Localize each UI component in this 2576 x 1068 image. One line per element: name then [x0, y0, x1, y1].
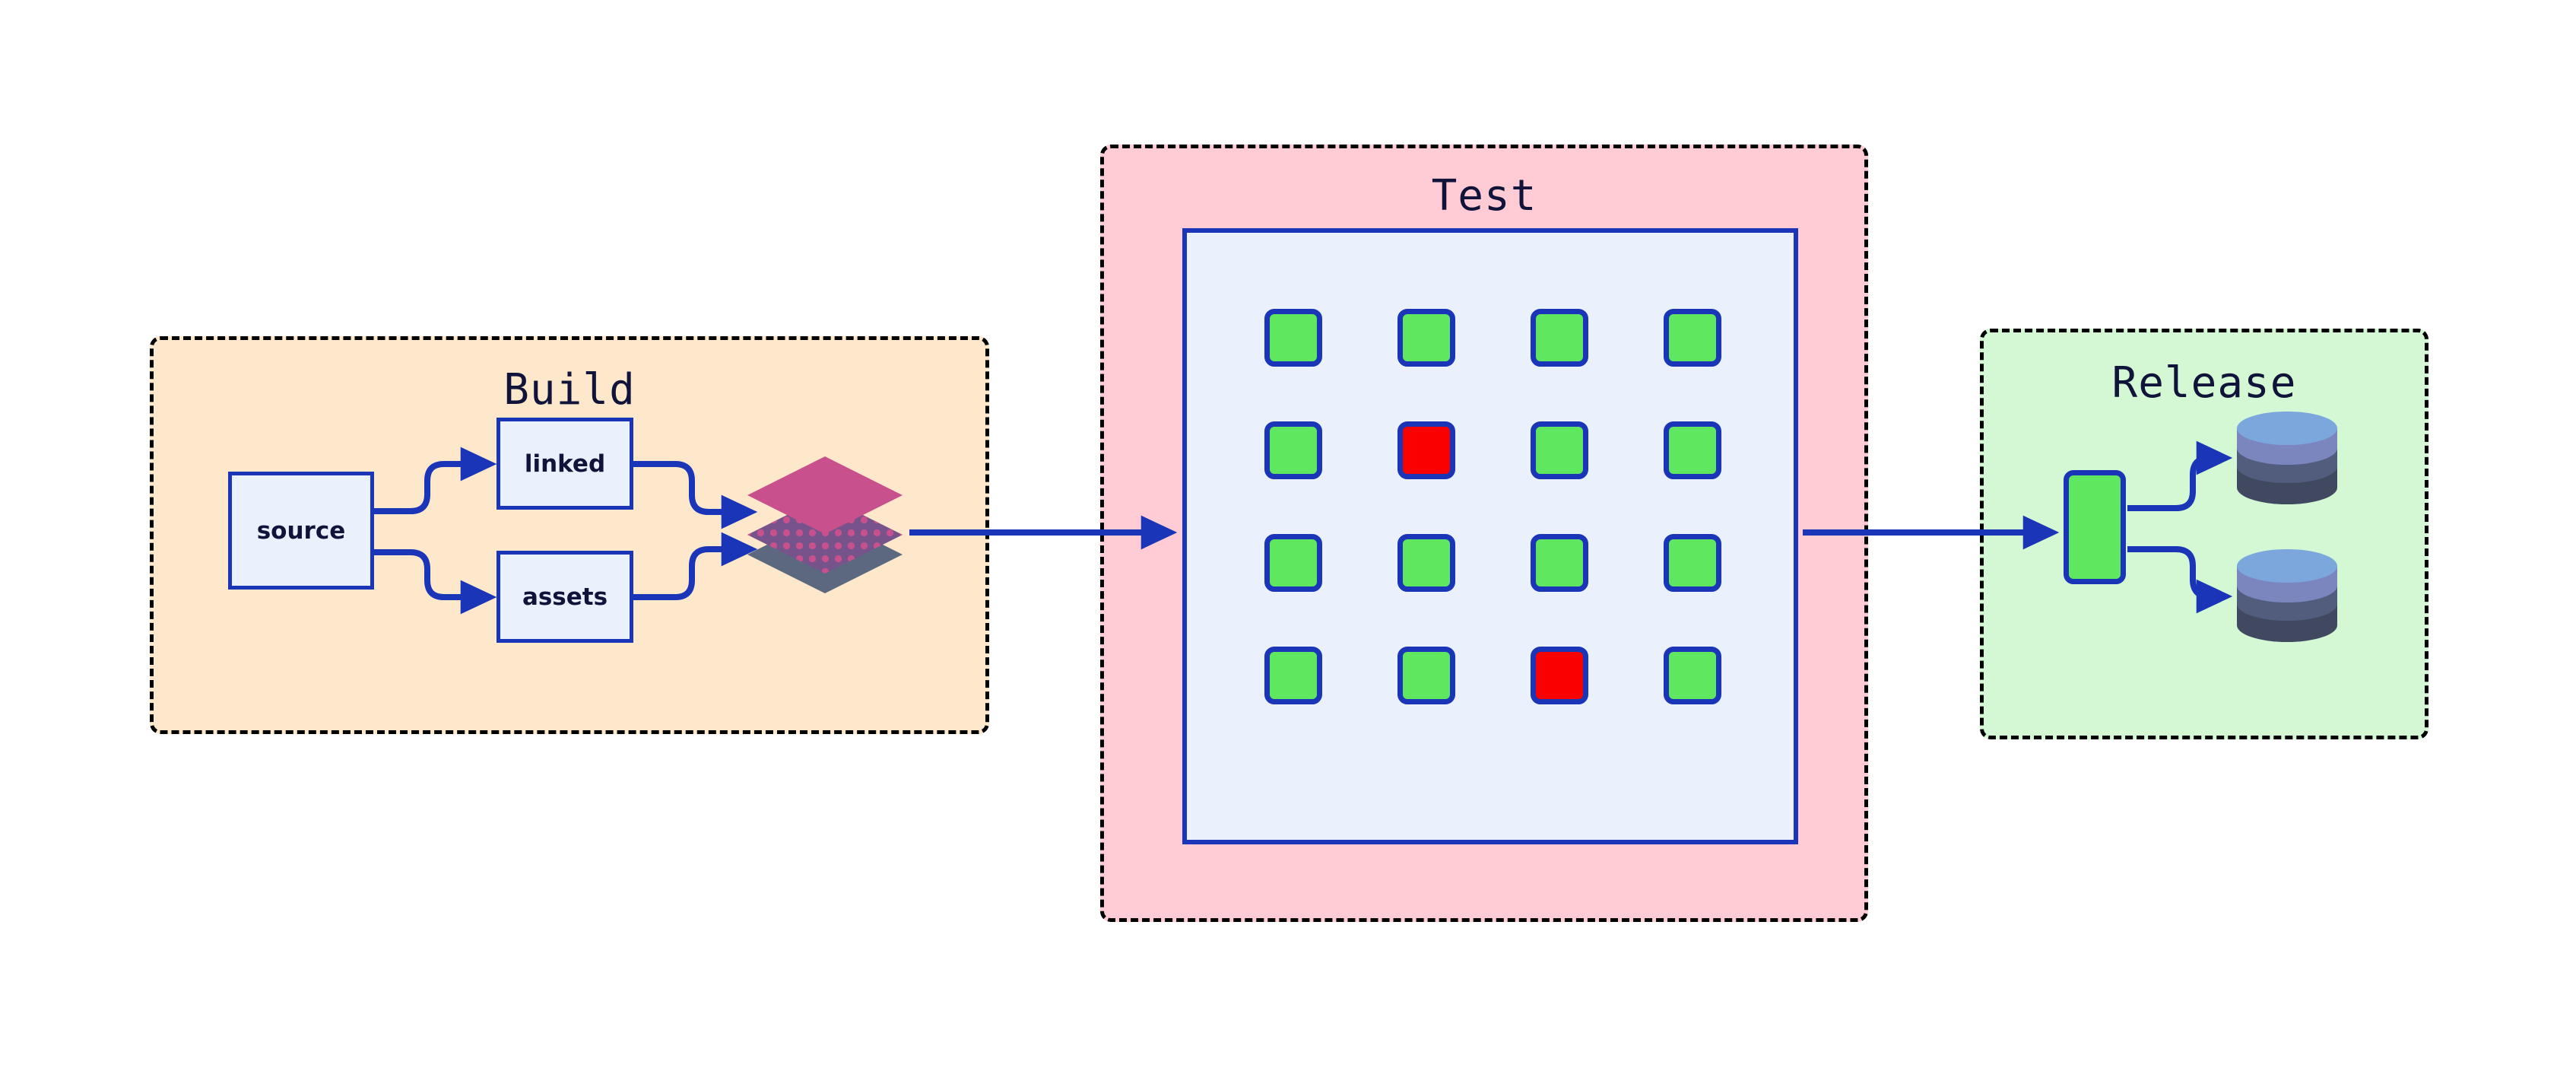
test-cell-pass-r1c3[interactable]	[1531, 309, 1588, 367]
build-node-source-label: source	[257, 517, 346, 545]
layers-stack-icon	[741, 449, 909, 601]
database-cylinder-icon[interactable]	[2234, 412, 2340, 506]
pipeline-diagram: Build source linked assets Test	[0, 0, 2576, 1068]
database-cylinder-icon[interactable]	[2234, 549, 2340, 644]
test-cell-pass-r4c4[interactable]	[1664, 647, 1721, 704]
release-bar-icon[interactable]	[2064, 470, 2126, 584]
test-cell-pass-r4c2[interactable]	[1397, 647, 1455, 704]
build-node-linked[interactable]: linked	[496, 418, 633, 510]
test-cell-pass-r2c4[interactable]	[1664, 421, 1721, 479]
stage-title-test: Test	[1104, 171, 1864, 221]
test-cell-pass-r1c2[interactable]	[1397, 309, 1455, 367]
test-cell-pass-r3c4[interactable]	[1664, 534, 1721, 592]
test-cell-pass-r2c3[interactable]	[1531, 421, 1588, 479]
test-cell-pass-r4c1[interactable]	[1264, 647, 1322, 704]
test-cell-pass-r2c1[interactable]	[1264, 421, 1322, 479]
build-node-linked-label: linked	[525, 450, 605, 478]
stage-title-release: Release	[1984, 358, 2425, 408]
test-results-panel	[1182, 228, 1798, 844]
test-cell-fail-r4c3[interactable]	[1531, 647, 1588, 704]
test-cell-pass-r1c4[interactable]	[1664, 309, 1721, 367]
test-cell-pass-r3c3[interactable]	[1531, 534, 1588, 592]
test-cell-pass-r1c1[interactable]	[1264, 309, 1322, 367]
build-node-source[interactable]: source	[228, 472, 374, 590]
build-node-assets-label: assets	[522, 583, 608, 611]
test-cell-pass-r3c2[interactable]	[1397, 534, 1455, 592]
stage-title-build: Build	[154, 365, 985, 415]
test-cell-pass-r3c1[interactable]	[1264, 534, 1322, 592]
test-results-grid	[1226, 309, 1759, 704]
build-node-assets[interactable]: assets	[496, 551, 633, 643]
test-cell-fail-r2c2[interactable]	[1397, 421, 1455, 479]
stage-zone-release: Release	[1980, 329, 2428, 739]
